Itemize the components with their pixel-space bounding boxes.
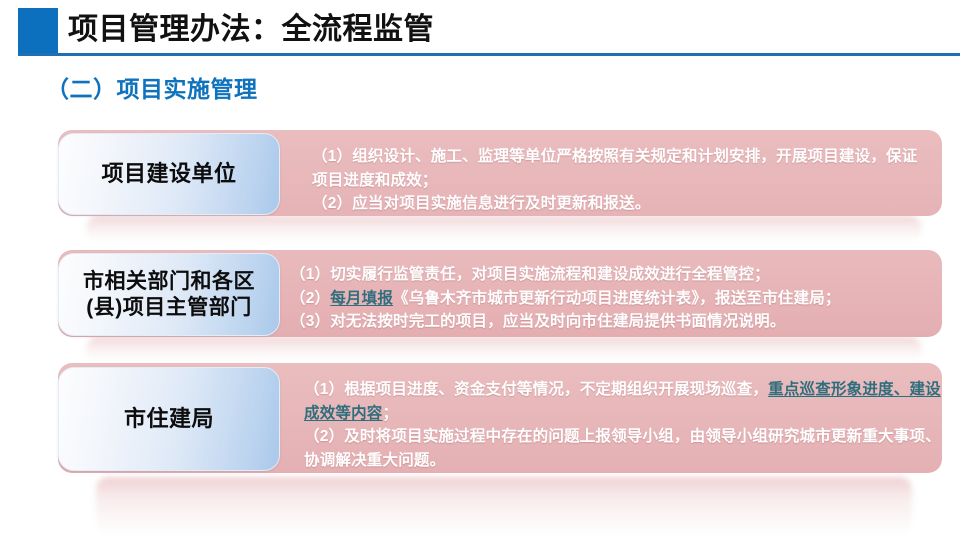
row-reflection-3 [96,477,912,535]
row-1-item-1-num: （1） [312,148,352,165]
row-2-item-1-text: 切实履行监管责任，对项目实施流程和建设成效进行全程管控； [330,266,770,283]
section-subtitle: （二）项目实施管理 [46,70,258,104]
row-reflection-1 [86,216,922,242]
row-2-item-1-num: （1） [290,266,330,283]
row-2-label-line-1: 市相关部门和各区 [83,269,255,295]
row-1-label: 项目建设单位 [101,161,236,188]
row-2-item-2-num: （2） [290,290,330,307]
row-1: 项目建设单位 （1）组织设计、施工、监理等单位严格按照有关规定和计划安排，开展项… [58,130,942,216]
row-2-label-box[interactable]: 市相关部门和各区 (县)项目主管部门 [58,253,280,336]
row-2-body: （1）切实履行监管责任，对项目实施流程和建设成效进行全程管控； （2）每月填报《… [290,263,940,334]
row-3-item-1-num: （1） [304,381,344,398]
row-1-item-2: （2）应当对项目实施信息进行及时更新和报送。 [294,192,930,216]
row-2-item-3: （3）对无法按时完工的项目，应当及时向市住建局提供书面情况说明。 [290,310,940,334]
row-2-item-3-num: （3） [290,313,330,330]
row-2-item-3-text: 对无法按时完工的项目，应当及时向市住建局提供书面情况说明。 [330,313,785,330]
row-1-label-box[interactable]: 项目建设单位 [58,133,280,215]
row-1-item-1: （1）组织设计、施工、监理等单位严格按照有关规定和计划安排，开展项目建设，保证项… [294,145,930,192]
row-3-label-box[interactable]: 市住建局 [58,367,280,471]
row-2-label-line-2: (县)项目主管部门 [83,295,255,321]
row-3-item-2-num: （2） [304,428,344,445]
row-1-body: （1）组织设计、施工、监理等单位严格按照有关规定和计划安排，开展项目建设，保证项… [294,145,930,216]
row-2-item-1: （1）切实履行监管责任，对项目实施流程和建设成效进行全程管控； [290,263,940,287]
slide: 项目管理办法：全流程监管 （二）项目实施管理 项目建设单位 （1）组织设计、施工… [0,0,960,540]
row-2-label: 市相关部门和各区 (县)项目主管部门 [83,269,255,320]
row-reflection-2 [86,337,922,361]
row-3-item-1-text: 根据项目进度、资金支付等情况，不定期组织开展现场巡查， [344,381,768,398]
row-1-item-2-num: （2） [312,195,352,212]
row-3-item-1-tail: ； [383,405,399,422]
page-title: 项目管理办法：全流程监管 [68,8,434,52]
row-2-item-2-text: 《乌鲁木齐市城市更新行动项目进度统计表》，报送至市住建局； [393,290,841,307]
row-3-body: （1）根据项目进度、资金支付等情况，不定期组织开展现场巡查，重点巡查形象进度、建… [286,378,941,472]
row-3-label: 市住建局 [124,406,214,433]
row-2: 市相关部门和各区 (县)项目主管部门 （1）切实履行监管责任，对项目实施流程和建… [58,250,942,337]
header-divider [18,53,960,56]
row-2-item-2-highlight: 每月填报 [330,290,393,307]
row-3-item-1: （1）根据项目进度、资金支付等情况，不定期组织开展现场巡查，重点巡查形象进度、建… [286,378,941,425]
row-3: 市住建局 （1）根据项目进度、资金支付等情况，不定期组织开展现场巡查，重点巡查形… [58,363,942,473]
header-accent-square [18,8,58,53]
row-3-item-2: （2）及时将项目实施过程中存在的问题上报领导小组，由领导小组研究城市更新重大事项… [286,425,941,472]
row-2-item-2: （2）每月填报《乌鲁木齐市城市更新行动项目进度统计表》，报送至市住建局； [290,287,940,311]
row-1-item-2-text: 应当对项目实施信息进行及时更新和报送。 [352,195,650,212]
row-1-item-1-text: 组织设计、施工、监理等单位严格按照有关规定和计划安排，开展项目建设，保证项目进度… [312,148,917,189]
row-3-item-2-text: 及时将项目实施过程中存在的问题上报领导小组，由领导小组研究城市更新重大事项、协调… [304,428,941,469]
